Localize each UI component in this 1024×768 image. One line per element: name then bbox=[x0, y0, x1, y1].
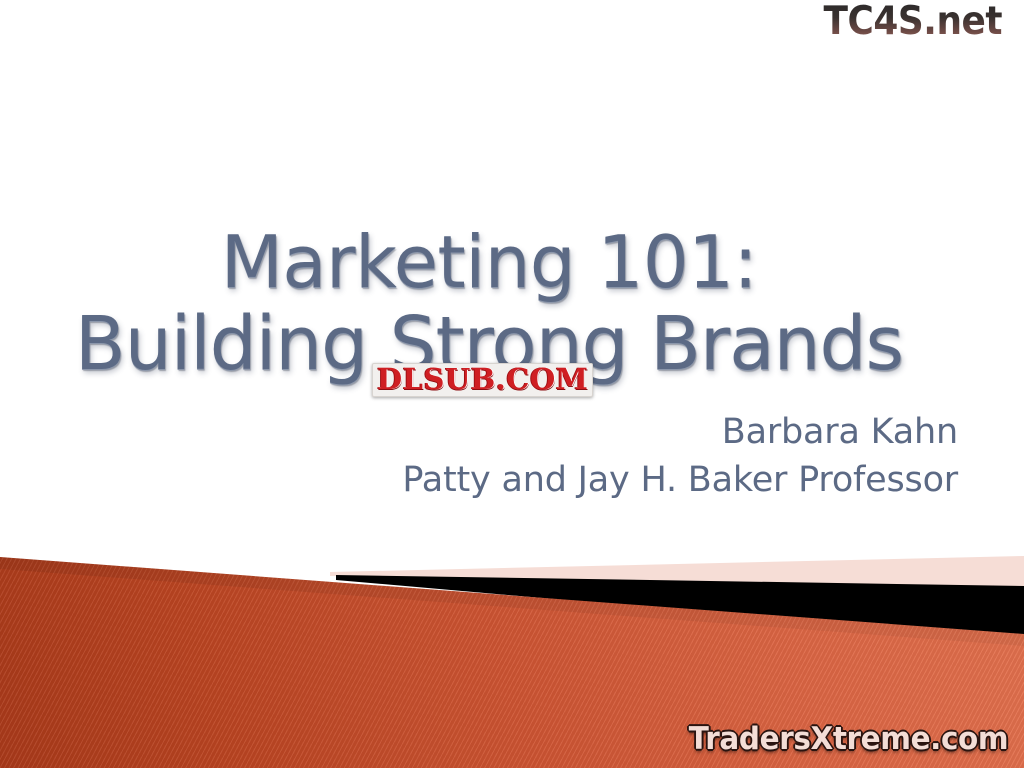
tc4s-watermark-text: TC4S.net bbox=[823, 2, 1002, 43]
subtitle: Barbara Kahn Patty and Jay H. Baker Prof… bbox=[0, 408, 1024, 505]
tc4s-watermark: TC4S.net bbox=[808, 2, 1002, 43]
page-title: Marketing 101: Building Strong Brands bbox=[0, 222, 1024, 386]
author-name: Barbara Kahn bbox=[0, 408, 958, 456]
dlsub-watermark: DLSUB.COM bbox=[372, 363, 593, 397]
tradersxtreme-watermark-text: TradersXtreme.com bbox=[689, 723, 1008, 756]
page-title-line-1: Marketing 101: bbox=[0, 222, 978, 303]
presentation-slide: TC4S.net Marketing 101: Building Strong … bbox=[0, 0, 1024, 768]
author-title: Patty and Jay H. Baker Professor bbox=[0, 456, 958, 504]
tradersxtreme-watermark: TradersXtreme.com bbox=[672, 723, 1008, 756]
dlsub-watermark-text: DLSUB.COM bbox=[377, 365, 588, 394]
